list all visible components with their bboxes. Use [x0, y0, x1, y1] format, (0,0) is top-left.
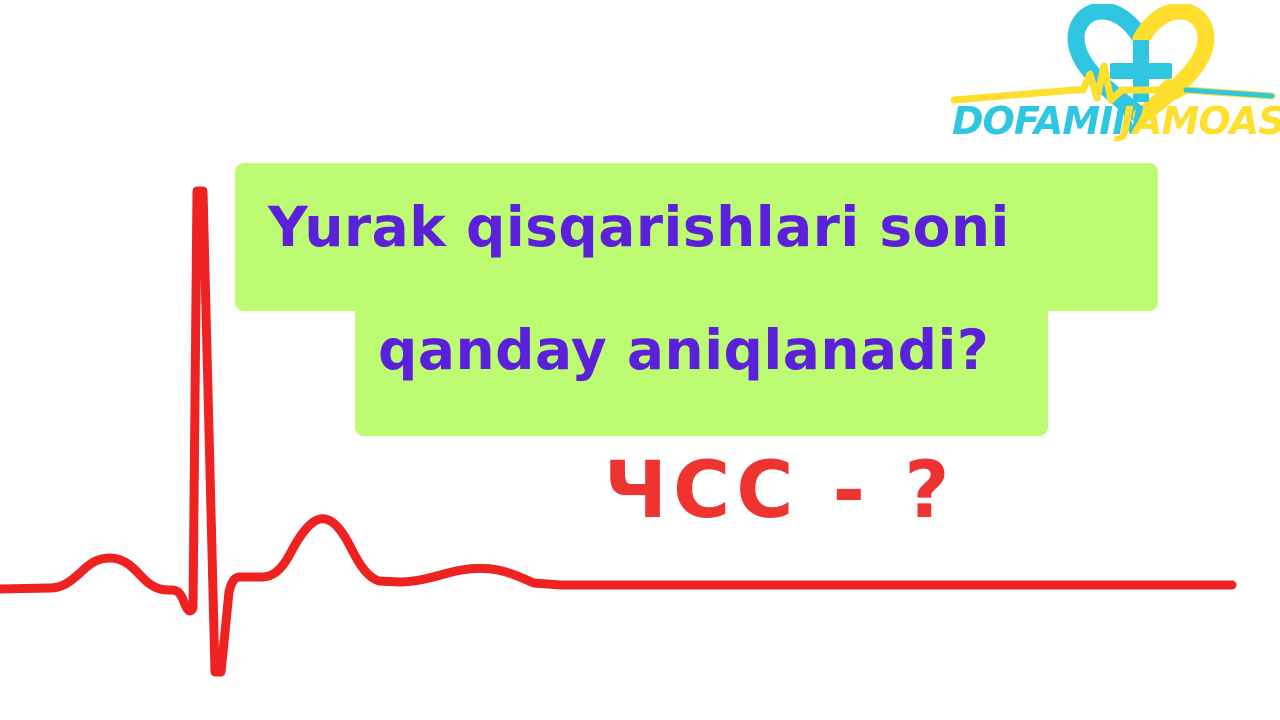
logo-wordmark-jamoasi: JAMOASI	[1120, 102, 1280, 140]
slide-title-line-1: Yurak qisqarishlari soni	[268, 200, 1010, 255]
heart-rate-abbreviation: ЧСС - ?	[604, 452, 955, 530]
logo-pulse-line-tail-icon	[1186, 90, 1272, 96]
logo-wordmark-dofamin: DOFAMIN	[952, 102, 1143, 140]
slide-title-line-2: qanday aniqlanadi?	[378, 323, 989, 378]
slide-canvas: Yurak qisqarishlari soni qanday aniqlana…	[0, 0, 1280, 720]
brand-logo: DOFAMIN JAMOASI	[950, 4, 1276, 142]
